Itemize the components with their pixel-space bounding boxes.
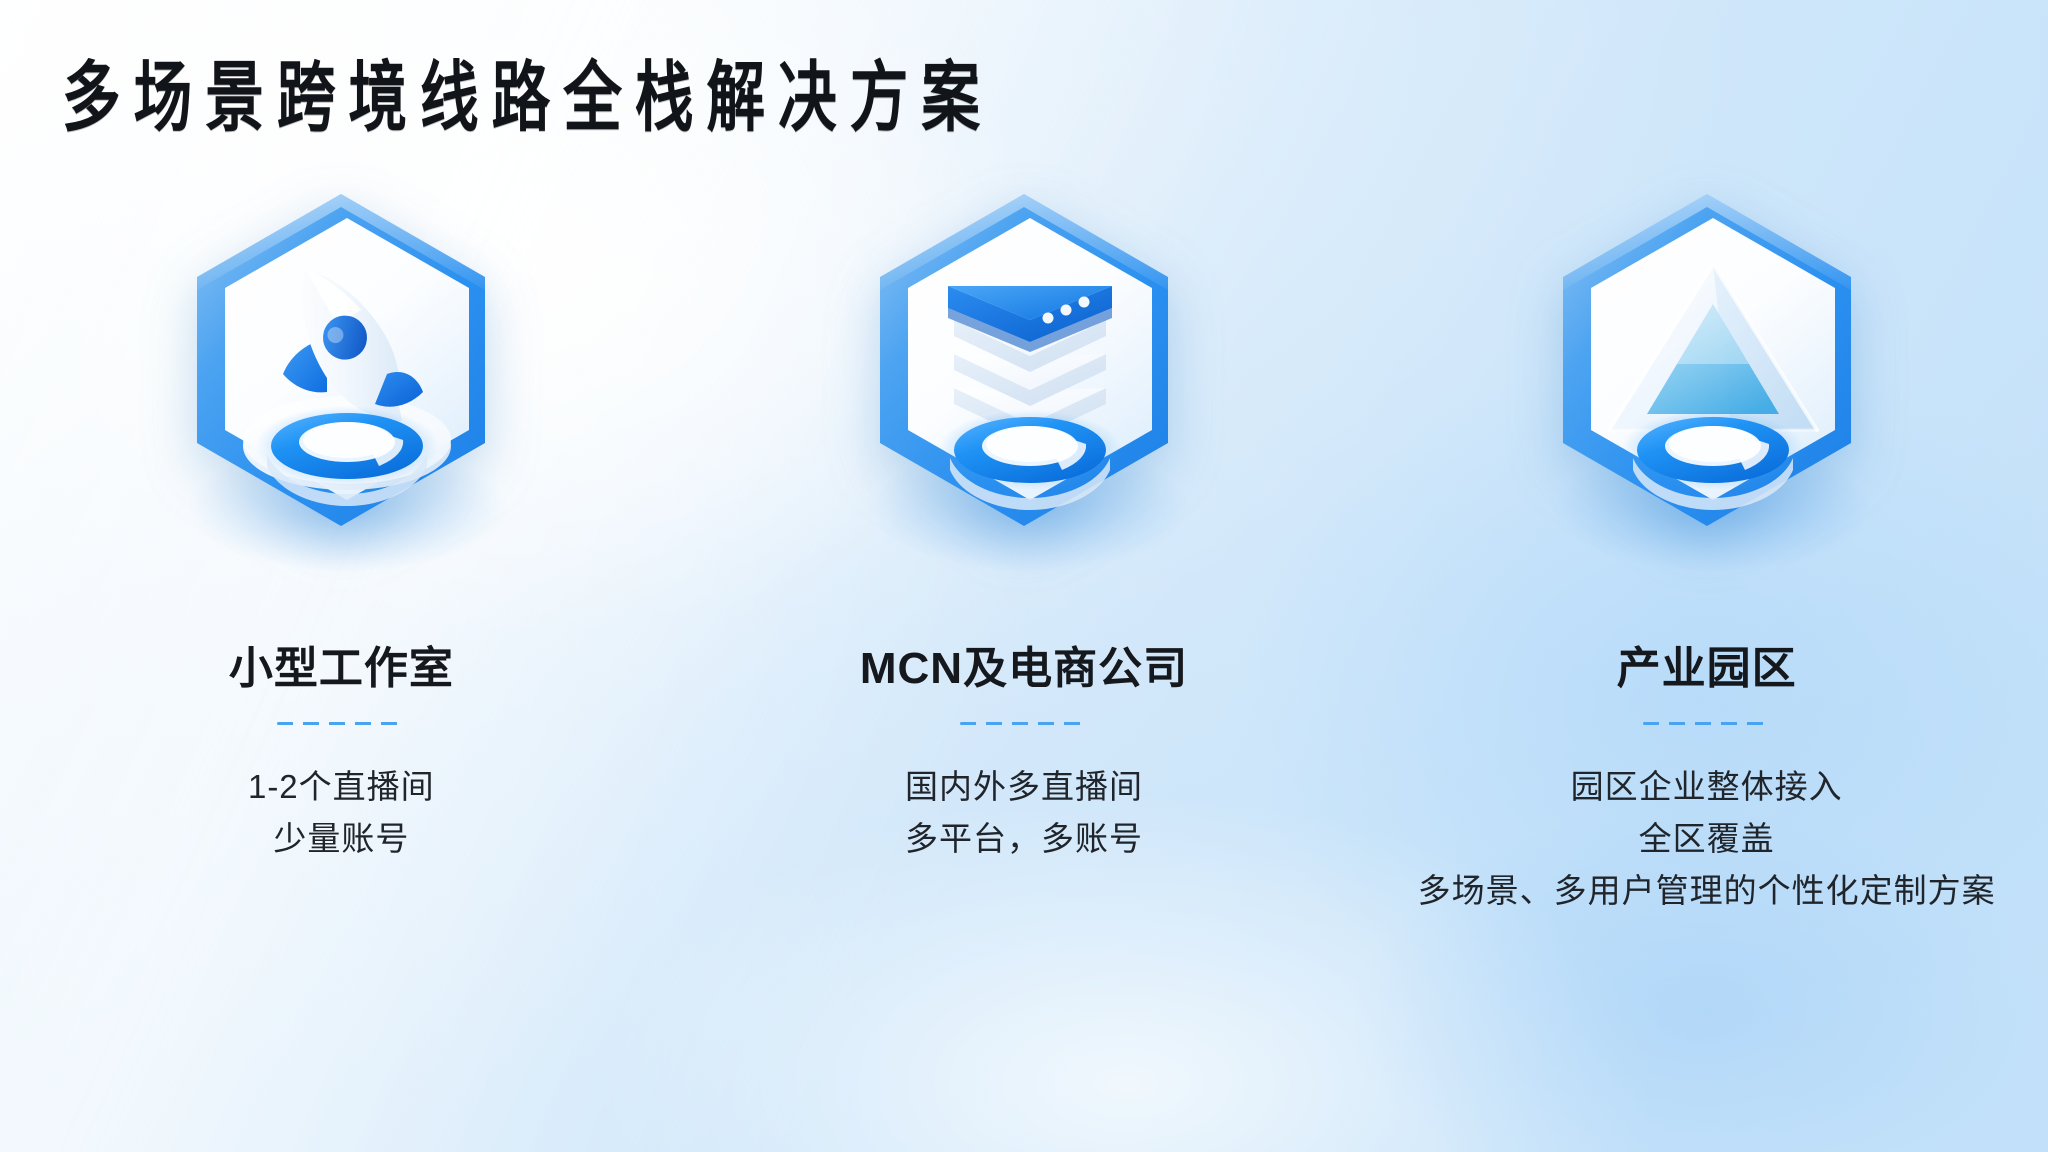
hexagon-frame-server <box>834 178 1214 588</box>
card-line: 多场景、多用户管理的个性化定制方案 <box>1418 865 1996 917</box>
solution-card-small-studio[interactable]: 小型工作室 1-2个直播间 少量账号 <box>61 178 621 865</box>
card-line: 1-2个直播间 <box>248 761 435 813</box>
card-line: 国内外多直播间 <box>905 761 1143 813</box>
card-line: 全区覆盖 <box>1418 813 1996 865</box>
card-line: 少量账号 <box>248 813 435 865</box>
server-stack-hexagon-icon <box>834 178 1214 588</box>
dashed-divider <box>960 722 1088 725</box>
card-description: 1-2个直播间 少量账号 <box>248 761 435 865</box>
card-description: 国内外多直播间 多平台，多账号 <box>905 761 1143 865</box>
hexagon-frame-rocket <box>151 178 531 588</box>
rocket-hexagon-icon <box>151 178 531 588</box>
solution-card-list: 小型工作室 1-2个直播间 少量账号 <box>0 178 2048 1078</box>
hexagon-frame-pyramid <box>1517 178 1897 588</box>
card-description: 园区企业整体接入 全区覆盖 多场景、多用户管理的个性化定制方案 <box>1418 761 1996 917</box>
page-title: 多场景跨境线路全栈解决方案 <box>62 58 993 139</box>
dashed-divider <box>1643 722 1771 725</box>
card-title: MCN及电商公司 <box>860 632 1188 696</box>
card-line: 多平台，多账号 <box>905 813 1143 865</box>
card-title: 小型工作室 <box>229 632 454 696</box>
solution-card-mcn-ecommerce[interactable]: MCN及电商公司 国内外多直播间 多平台，多账号 <box>744 178 1304 865</box>
pyramid-hexagon-icon <box>1517 178 1897 588</box>
card-line: 园区企业整体接入 <box>1418 761 1996 813</box>
card-title: 产业园区 <box>1617 632 1797 696</box>
dashed-divider <box>277 722 405 725</box>
solution-card-industrial-park[interactable]: 产业园区 园区企业整体接入 全区覆盖 多场景、多用户管理的个性化定制方案 <box>1427 178 1987 917</box>
